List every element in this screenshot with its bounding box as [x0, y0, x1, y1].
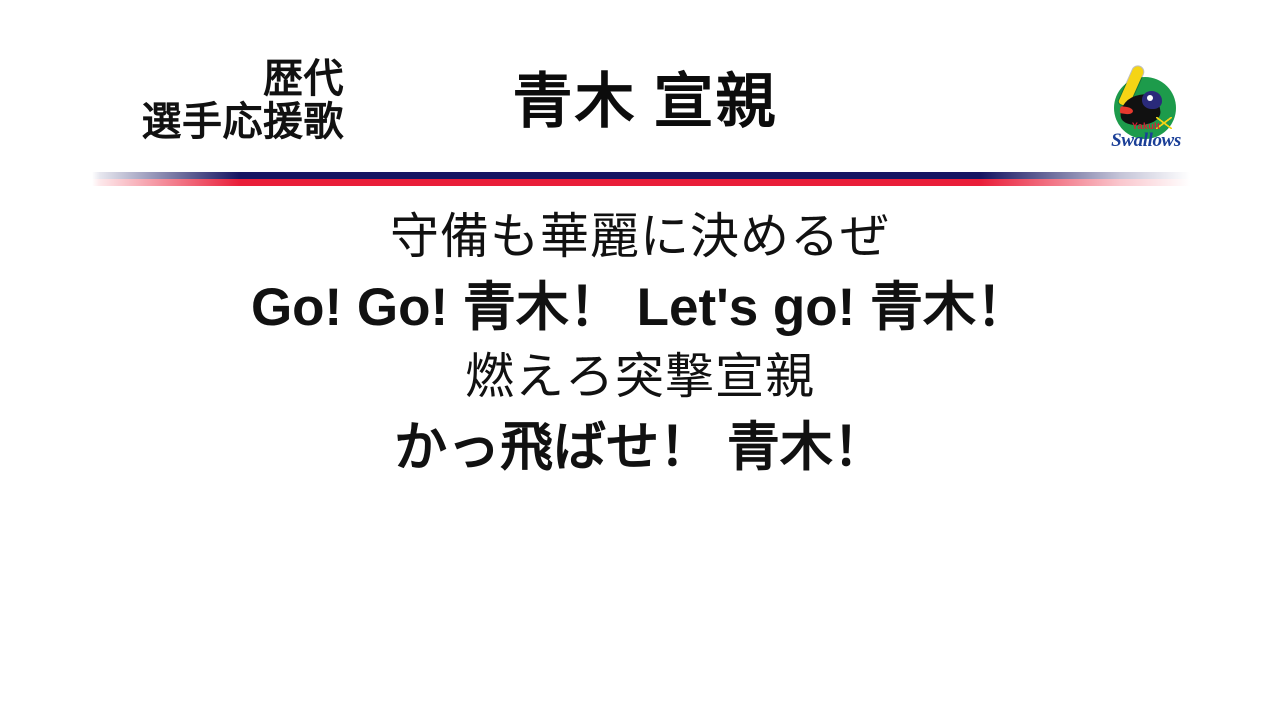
series-label: 歴代 選手応援歌	[60, 58, 344, 144]
logo-team-text: Swallows	[1098, 130, 1194, 152]
header-divider	[0, 172, 1280, 186]
lyrics-block: 守備も華麗に決めるぜ Go! Go! 青木！ Let's go! 青木！ 燃えろ…	[0, 205, 1280, 485]
divider-band-navy	[0, 172, 1280, 179]
series-label-line1: 歴代	[60, 58, 344, 101]
lyric-line: 守備も華麗に決めるぜ	[0, 205, 1280, 275]
lyric-line: かっ飛ばせ！ 青木！	[0, 415, 1280, 485]
lyric-line: 燃えろ突撃宣親	[0, 345, 1280, 415]
series-label-line2: 選手応援歌	[60, 101, 344, 144]
swallow-eye-icon	[1147, 95, 1153, 101]
team-logo: Yakult Swallows	[1098, 57, 1194, 157]
slide-header: 歴代 選手応援歌 青木 宣親 Yakult Swallows	[0, 0, 1280, 172]
page-title: 青木 宣親	[380, 72, 910, 132]
divider-band-red	[0, 179, 1280, 186]
lyric-line: Go! Go! 青木！ Let's go! 青木！	[0, 275, 1280, 345]
